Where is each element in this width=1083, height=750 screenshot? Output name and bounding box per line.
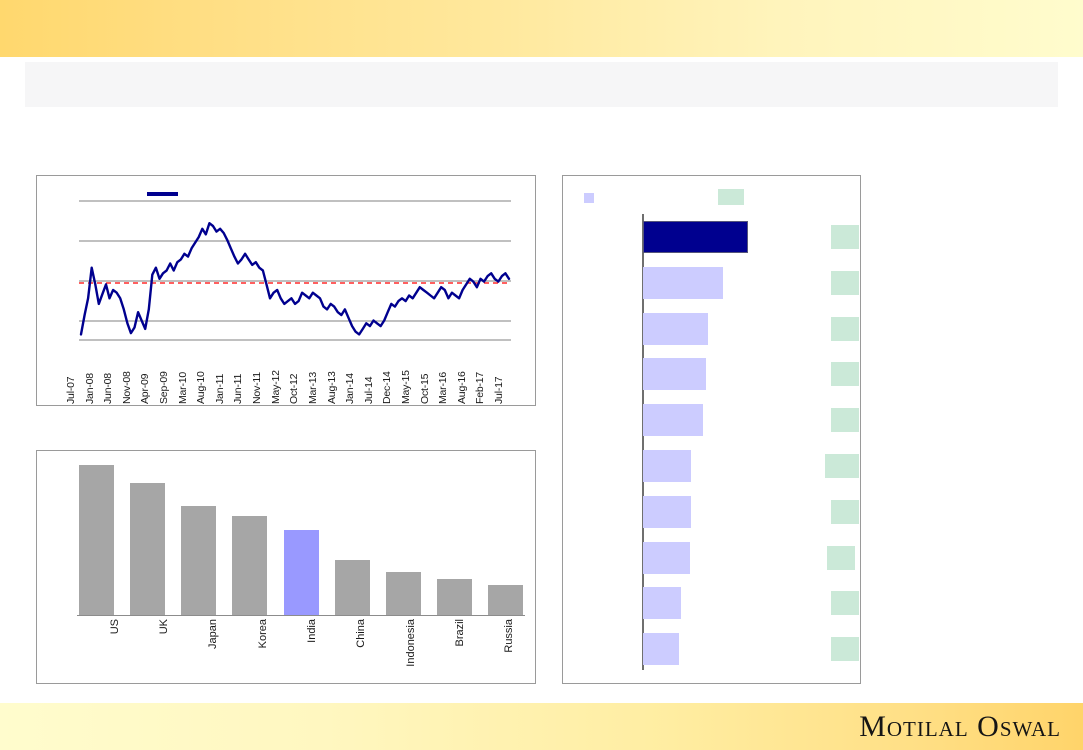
hbar-row xyxy=(563,260,860,306)
line-x-tick: Mar-13 xyxy=(307,372,319,404)
line-x-tick: May-15 xyxy=(400,370,412,404)
slide-title-bar xyxy=(25,62,1058,107)
column-bar xyxy=(79,465,114,615)
line-x-tick: Jan-11 xyxy=(214,374,226,404)
column-x-tick: Japan xyxy=(207,619,219,649)
hbar-row xyxy=(563,214,860,260)
top-banner xyxy=(0,0,1083,57)
line-x-tick: Jun-11 xyxy=(232,374,244,404)
column-x-tick: China xyxy=(355,619,367,648)
column-bars-container xyxy=(79,465,523,615)
line-x-tick: Jun-08 xyxy=(102,373,114,404)
column-x-tick: Korea xyxy=(257,619,269,648)
hbar-row xyxy=(563,626,860,672)
hbar-secondary-marker xyxy=(831,637,859,661)
hbar-secondary-marker xyxy=(831,225,859,249)
hbar-fill xyxy=(643,313,708,345)
line-x-tick: Mar-16 xyxy=(437,372,449,404)
hbar-fill xyxy=(643,358,706,390)
hbar-fill xyxy=(643,587,681,619)
hbar-fill xyxy=(643,404,703,436)
column-chart-plot: USUKJapanKoreaIndiaChinaIndonesiaBrazilR… xyxy=(37,451,535,683)
line-x-tick: Jan-14 xyxy=(344,373,356,404)
line-x-tick: Mar-10 xyxy=(177,372,189,404)
hbar-secondary-marker xyxy=(825,454,859,478)
line-chart-x-axis: Jul-07Jan-08Jun-08Nov-08Apr-09Sep-09Mar-… xyxy=(37,340,535,406)
line-series-path xyxy=(81,223,509,334)
line-x-tick: Feb-17 xyxy=(474,372,486,404)
hbar-secondary-marker xyxy=(831,591,859,615)
line-x-tick: Aug-10 xyxy=(195,371,207,404)
column-x-tick: Brazil xyxy=(454,619,466,647)
hbar-row xyxy=(563,489,860,535)
brand-logo: Motilal Oswal xyxy=(859,710,1061,744)
line-x-tick: Sep-09 xyxy=(158,371,170,404)
column-x-tick: UK xyxy=(158,619,170,634)
line-x-tick: Nov-11 xyxy=(251,372,263,404)
line-x-tick: Nov-08 xyxy=(121,371,133,404)
hbar-secondary-marker xyxy=(831,362,859,386)
hbar-secondary-marker xyxy=(827,546,855,570)
line-x-tick: Jul-07 xyxy=(65,377,77,404)
hbar-fill xyxy=(643,542,690,574)
hbar-row xyxy=(563,580,860,626)
line-chart-panel: Jul-07Jan-08Jun-08Nov-08Apr-09Sep-09Mar-… xyxy=(36,175,536,406)
hbar-row xyxy=(563,443,860,489)
hbar-row xyxy=(563,351,860,397)
hbar-rows-container xyxy=(563,214,860,672)
line-x-tick: Dec-14 xyxy=(381,371,393,404)
line-x-tick: Jul-17 xyxy=(493,377,505,404)
hbar-secondary-marker xyxy=(831,317,859,341)
hbar-fill xyxy=(643,267,723,299)
hbar-fill xyxy=(643,450,691,482)
column-bar xyxy=(386,572,421,616)
column-bar xyxy=(284,530,319,616)
hbar-legend-primary-swatch xyxy=(584,193,594,203)
line-x-tick: Apr-09 xyxy=(139,374,151,404)
column-x-tick: US xyxy=(109,619,121,634)
column-bar xyxy=(437,579,472,615)
hbar-row xyxy=(563,306,860,352)
column-bar xyxy=(335,560,370,616)
line-legend-swatch xyxy=(147,192,178,196)
hbar-fill xyxy=(643,221,748,253)
line-x-tick: Jan-08 xyxy=(84,373,96,404)
hbar-row xyxy=(563,397,860,443)
column-bar xyxy=(488,585,523,615)
hbar-secondary-marker xyxy=(831,500,859,524)
line-x-tick: Jul-14 xyxy=(363,377,375,404)
column-bar xyxy=(181,506,216,616)
line-x-tick: Aug-13 xyxy=(326,371,338,404)
line-x-tick: Aug-16 xyxy=(456,371,468,404)
column-x-tick: India xyxy=(306,619,318,643)
column-x-tick: Russia xyxy=(503,619,515,653)
hbar-legend-secondary-swatch xyxy=(718,189,744,205)
column-bar xyxy=(232,516,267,615)
column-chart-panel: USUKJapanKoreaIndiaChinaIndonesiaBrazilR… xyxy=(36,450,536,684)
hbar-row xyxy=(563,535,860,581)
line-x-tick: Oct-15 xyxy=(419,374,431,404)
column-x-tick: Indonesia xyxy=(405,619,417,667)
hbar-secondary-marker xyxy=(831,408,859,432)
column-axis-line xyxy=(77,615,525,616)
hbar-fill xyxy=(643,496,691,528)
line-x-tick: May-12 xyxy=(270,370,282,404)
line-x-tick: Oct-12 xyxy=(288,374,300,404)
column-chart-x-axis: USUKJapanKoreaIndiaChinaIndonesiaBrazilR… xyxy=(79,617,523,681)
hbar-fill xyxy=(643,633,679,665)
hbar-legend xyxy=(563,176,860,216)
hbar-secondary-marker xyxy=(831,271,859,295)
column-bar xyxy=(130,483,165,615)
hbar-chart-panel xyxy=(562,175,861,684)
